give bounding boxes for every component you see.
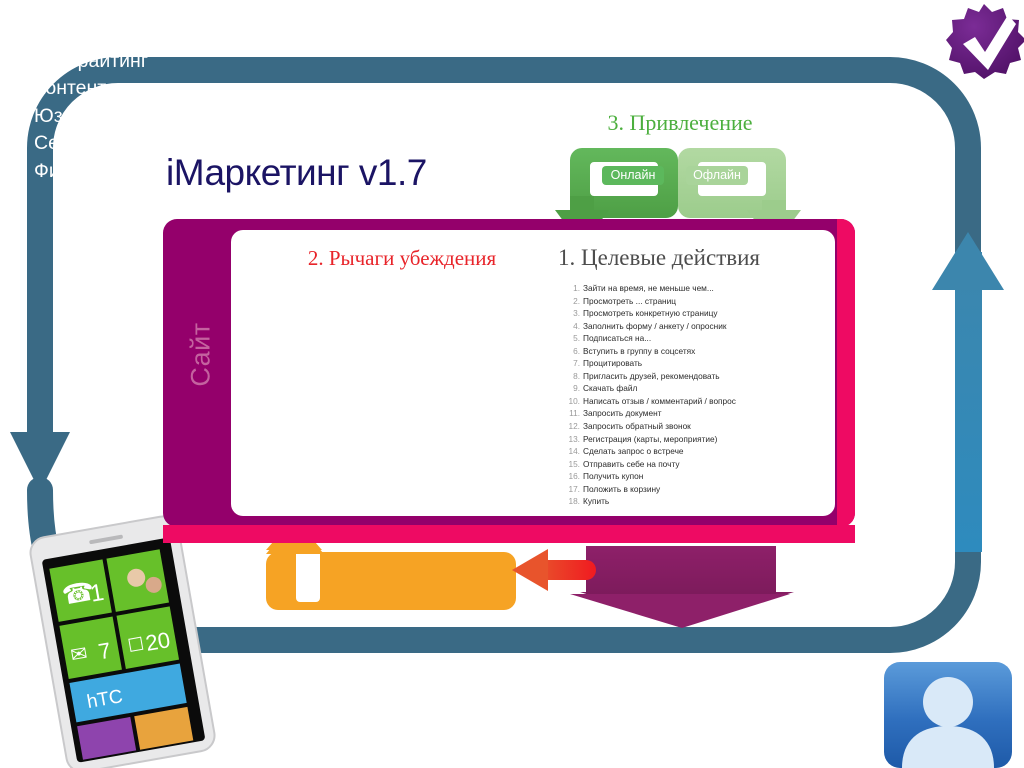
levers-item: Юзабилити bbox=[34, 103, 148, 131]
target-action-item: 3.Просмотреть конкретную страницу bbox=[566, 307, 836, 320]
target-action-item: 7.Процитировать bbox=[566, 357, 836, 370]
tag-offline[interactable]: Офлайн bbox=[686, 166, 748, 185]
target-action-item: 6.Вступить в группу в соцсетях bbox=[566, 345, 836, 358]
levers-item-list: ДизайнКопирайтингКонтентЮзабилитиСервисы… bbox=[34, 20, 148, 185]
target-action-text: Сделать запрос о встрече bbox=[583, 445, 684, 458]
target-action-text: Заполнить форму / анкету / опросник bbox=[583, 320, 727, 333]
target-action-text: Пригласить друзей, рекомендовать bbox=[583, 370, 720, 383]
attraction-heading: 3. Привлечение bbox=[560, 110, 800, 136]
check-seal-icon bbox=[946, 4, 1024, 79]
target-action-number: 13. bbox=[566, 433, 580, 446]
svg-text:7: 7 bbox=[96, 638, 112, 665]
user-avatar-icon bbox=[884, 662, 1012, 768]
infographic-canvas: ☎ 1 ✉ 7 ☐ 20 hTC Сайт iМаркетинг v1.7 3.… bbox=[0, 0, 1024, 768]
target-action-item: 14.Сделать запрос о встрече bbox=[566, 445, 836, 458]
site-panel-pink-bottom bbox=[163, 525, 855, 543]
target-action-number: 2. bbox=[566, 295, 580, 308]
levers-item: Копирайтинг bbox=[34, 48, 148, 76]
target-action-number: 14. bbox=[566, 445, 580, 458]
target-action-item: 9.Скачать файл bbox=[566, 382, 836, 395]
page-title: iМаркетинг v1.7 bbox=[166, 152, 427, 194]
target-action-item: 8.Пригласить друзей, рекомендовать bbox=[566, 370, 836, 383]
svg-text:☐: ☐ bbox=[126, 634, 145, 656]
levers-item: Фишки bbox=[34, 158, 148, 186]
target-action-number: 10. bbox=[566, 395, 580, 408]
target-action-item: 16.Получить купон bbox=[566, 470, 836, 483]
svg-text:1: 1 bbox=[88, 579, 106, 608]
target-action-item: 11.Запросить документ bbox=[566, 407, 836, 420]
levers-heading: 2. Рычаги убеждения bbox=[268, 246, 536, 271]
attraction-tags: Онлайн Офлайн bbox=[556, 140, 804, 240]
target-action-number: 18. bbox=[566, 495, 580, 508]
target-action-number: 17. bbox=[566, 483, 580, 496]
target-action-number: 8. bbox=[566, 370, 580, 383]
svg-text:✉: ✉ bbox=[69, 643, 89, 668]
loop-arrow-down bbox=[10, 432, 70, 492]
target-action-number: 1. bbox=[566, 282, 580, 295]
target-action-item: 12.Запросить обратный звонок bbox=[566, 420, 836, 433]
target-action-number: 7. bbox=[566, 357, 580, 370]
target-action-text: Регистрация (карты, мероприятие) bbox=[583, 433, 717, 446]
target-action-text: Написать отзыв / комментарий / вопрос bbox=[583, 395, 736, 408]
target-action-text: Положить в корзину bbox=[583, 483, 660, 496]
target-action-text: Подписаться на... bbox=[583, 332, 651, 345]
target-action-item: 1.Зайти на время, не меньше чем... bbox=[566, 282, 836, 295]
target-action-number: 6. bbox=[566, 345, 580, 358]
target-action-number: 16. bbox=[566, 470, 580, 483]
target-action-number: 3. bbox=[566, 307, 580, 320]
target-action-item: 17.Положить в корзину bbox=[566, 483, 836, 496]
target-action-text: Отправить себе на почту bbox=[583, 458, 679, 471]
target-action-item: 5.Подписаться на... bbox=[566, 332, 836, 345]
target-action-text: Просмотреть конкретную страницу bbox=[583, 307, 718, 320]
target-action-item: 4.Заполнить форму / анкету / опросник bbox=[566, 320, 836, 333]
tag-online[interactable]: Онлайн bbox=[602, 166, 664, 185]
target-action-number: 11. bbox=[566, 407, 580, 420]
target-actions-heading: 1. Целевые действия bbox=[558, 245, 760, 271]
target-action-item: 2.Просмотреть ... страниц bbox=[566, 295, 836, 308]
target-action-number: 15. bbox=[566, 458, 580, 471]
target-action-item: 13.Регистрация (карты, мероприятие) bbox=[566, 433, 836, 446]
target-action-text: Процитировать bbox=[583, 357, 642, 370]
windows-phone-image: ☎ 1 ✉ 7 ☐ 20 hTC bbox=[28, 514, 217, 768]
target-action-text: Запросить обратный звонок bbox=[583, 420, 691, 433]
levers-item: Контент bbox=[34, 75, 148, 103]
target-action-number: 4. bbox=[566, 320, 580, 333]
svg-text:20: 20 bbox=[144, 627, 172, 656]
target-action-text: Скачать файл bbox=[583, 382, 637, 395]
target-action-text: Просмотреть ... страниц bbox=[583, 295, 676, 308]
losses-shape bbox=[570, 546, 794, 628]
target-action-text: Вступить в группу в соцсетях bbox=[583, 345, 695, 358]
levers-item: Сервисы bbox=[34, 130, 148, 158]
target-action-number: 5. bbox=[566, 332, 580, 345]
losses-label: Потери bbox=[0, 14, 170, 42]
svg-text:☎: ☎ bbox=[60, 576, 97, 611]
site-panel-pink-edge bbox=[837, 219, 855, 527]
svg-text:hTC: hTC bbox=[85, 686, 124, 713]
target-action-item: 18.Купить bbox=[566, 495, 836, 508]
target-action-text: Запросить документ bbox=[583, 407, 662, 420]
target-action-item: 10.Написать отзыв / комментарий / вопрос bbox=[566, 395, 836, 408]
site-label: Сайт bbox=[186, 300, 217, 410]
target-action-number: 12. bbox=[566, 420, 580, 433]
analytics-arrow-up bbox=[932, 232, 1004, 552]
target-action-text: Зайти на время, не меньше чем... bbox=[583, 282, 714, 295]
target-action-number: 9. bbox=[566, 382, 580, 395]
target-action-text: Купить bbox=[583, 495, 609, 508]
losses-to-retention-arrow bbox=[512, 549, 596, 591]
target-actions-list: 1.Зайти на время, не меньше чем...2.Прос… bbox=[566, 282, 836, 508]
analytics-label: 5. Аналитика bbox=[997, 281, 1019, 481]
target-action-text: Получить купон bbox=[583, 470, 643, 483]
target-action-item: 15.Отправить себе на почту bbox=[566, 458, 836, 471]
